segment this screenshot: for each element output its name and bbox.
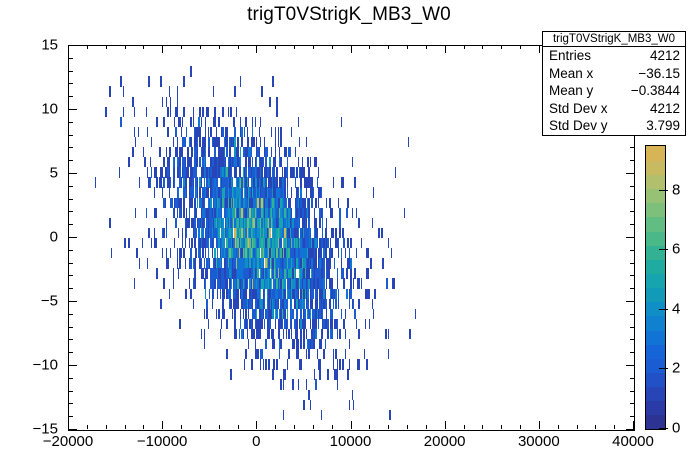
- histogram-bin: [280, 137, 281, 147]
- histogram-bin: [276, 309, 277, 319]
- x-minor-tick-top: [219, 45, 220, 49]
- y-minor-tick: [69, 186, 73, 187]
- histogram-bin: [179, 258, 180, 268]
- histogram-bin: [315, 329, 316, 339]
- histogram-bin: [198, 248, 199, 258]
- histogram-bin: [240, 319, 241, 329]
- histogram-bin: [368, 268, 369, 278]
- histogram-bin: [288, 258, 289, 268]
- histogram-bin: [217, 137, 218, 147]
- y-minor-tick-right: [630, 314, 634, 315]
- histogram-bin: [218, 137, 219, 147]
- x-major-tick: [256, 421, 257, 429]
- histogram-bin: [175, 218, 176, 228]
- histogram-bin: [156, 117, 157, 127]
- histogram-bin: [272, 258, 273, 268]
- x-major-tick-top: [68, 45, 69, 53]
- histogram-bin: [138, 127, 139, 137]
- histogram-bin: [251, 278, 252, 288]
- x-minor-tick: [501, 425, 502, 429]
- histogram-bin: [201, 177, 202, 187]
- histogram-bin: [216, 127, 217, 137]
- histogram-bin: [228, 157, 229, 167]
- histogram-bin: [292, 379, 293, 389]
- histogram-bin: [280, 379, 281, 389]
- histogram-bin: [169, 167, 170, 177]
- histogram-bin: [350, 258, 351, 268]
- histogram-bin: [247, 268, 248, 278]
- x-minor-tick-top: [501, 45, 502, 49]
- histogram-bin: [256, 319, 257, 329]
- histogram-bin: [366, 359, 367, 369]
- histogram-bin: [265, 238, 266, 248]
- histogram-bin: [194, 268, 195, 278]
- histogram-bin: [350, 238, 351, 248]
- histogram-bin: [300, 198, 301, 208]
- x-minor-tick: [482, 425, 483, 429]
- histogram-bin: [230, 177, 231, 187]
- histogram-bin: [173, 208, 174, 218]
- histogram-bin: [220, 258, 221, 268]
- histogram-bin: [244, 198, 245, 208]
- histogram-bin: [296, 198, 297, 208]
- histogram-bin: [259, 238, 260, 248]
- histogram-bin: [252, 289, 253, 299]
- histogram-bin: [202, 248, 203, 258]
- histogram-bin: [190, 66, 191, 76]
- histogram-bin: [166, 147, 167, 157]
- histogram-bin: [335, 319, 336, 329]
- histogram-bin: [224, 198, 225, 208]
- histogram-bin: [229, 289, 230, 299]
- histogram-bin: [292, 278, 293, 288]
- histogram-bin: [259, 208, 260, 218]
- histogram-bin: [233, 208, 234, 218]
- histogram-bin: [294, 339, 295, 349]
- histogram-bin: [253, 198, 254, 208]
- histogram-bin: [213, 238, 214, 248]
- histogram-bin: [261, 157, 262, 167]
- histogram-bin: [282, 258, 283, 268]
- histogram-bin: [224, 289, 225, 299]
- histogram-bin: [170, 147, 171, 157]
- histogram-bin: [314, 208, 315, 218]
- histogram-bin: [296, 208, 297, 218]
- histogram-bin: [279, 329, 280, 339]
- histogram-bin: [317, 278, 318, 288]
- histogram-bin: [214, 228, 215, 238]
- histogram-bin: [230, 107, 231, 117]
- x-minor-tick: [181, 425, 182, 429]
- histogram-bin: [230, 369, 231, 379]
- histogram-bin: [181, 198, 182, 208]
- histogram-bin: [243, 309, 244, 319]
- histogram-bin: [111, 248, 112, 258]
- histogram-bin: [249, 167, 250, 177]
- histogram-bin: [182, 228, 183, 238]
- histogram-bin: [257, 208, 258, 218]
- histogram-bin: [222, 218, 223, 228]
- histogram-bin: [321, 187, 322, 197]
- histogram-bin: [294, 268, 295, 278]
- histogram-bin: [321, 339, 322, 349]
- histogram-bin: [247, 147, 248, 157]
- histogram-bin: [308, 278, 309, 288]
- histogram-bin: [263, 187, 264, 197]
- histogram-bin: [317, 177, 318, 187]
- y-minor-tick-right: [630, 288, 634, 289]
- histogram-bin: [298, 238, 299, 248]
- histogram-bin: [109, 86, 110, 96]
- histogram-bin: [179, 167, 180, 177]
- histogram-bin: [167, 127, 168, 137]
- histogram-bin: [303, 329, 304, 339]
- histogram-bin: [240, 157, 241, 167]
- y-minor-tick: [69, 288, 73, 289]
- histogram-bin: [267, 278, 268, 288]
- histogram-bin: [314, 309, 315, 319]
- y-minor-tick: [69, 135, 73, 136]
- histogram-bin: [186, 177, 187, 187]
- x-minor-tick-top: [294, 45, 295, 49]
- histogram-bin: [331, 248, 332, 258]
- histogram-bin: [216, 157, 217, 167]
- x-minor-tick: [275, 425, 276, 429]
- histogram-bin: [234, 309, 235, 319]
- histogram-bin: [284, 248, 285, 258]
- x-minor-tick: [143, 425, 144, 429]
- histogram-bin: [308, 198, 309, 208]
- histogram-bin: [331, 319, 332, 329]
- histogram-bin: [208, 127, 209, 137]
- histogram-bin: [329, 248, 330, 258]
- histogram-bin: [291, 329, 292, 339]
- histogram-bin: [326, 309, 327, 319]
- histogram-bin: [194, 218, 195, 228]
- histogram-bin: [177, 147, 178, 157]
- histogram-bin: [265, 187, 266, 197]
- histogram-bin: [234, 137, 235, 147]
- histogram-bin: [272, 289, 273, 299]
- histogram-bin: [353, 400, 354, 410]
- histogram-bin: [199, 238, 200, 248]
- histogram-bin: [282, 187, 283, 197]
- histogram-bin: [381, 228, 382, 238]
- histogram-bin: [271, 187, 272, 197]
- histogram-bin: [256, 238, 257, 248]
- histogram-bin: [329, 258, 330, 268]
- histogram-bin: [255, 177, 256, 187]
- histogram-bin: [283, 238, 284, 248]
- histogram-bin: [225, 268, 226, 278]
- x-minor-tick: [200, 425, 201, 429]
- histogram-bin: [148, 177, 149, 187]
- x-minor-tick-top: [200, 45, 201, 49]
- histogram-bin: [186, 228, 187, 238]
- histogram-bin: [155, 238, 156, 248]
- x-minor-tick: [313, 425, 314, 429]
- histogram-bin: [265, 268, 266, 278]
- histogram-bin: [263, 268, 264, 278]
- palette-band: [646, 259, 665, 274]
- histogram-bin: [296, 187, 297, 197]
- x-minor-tick: [294, 425, 295, 429]
- histogram-bin: [268, 329, 269, 339]
- histogram-bin: [237, 268, 238, 278]
- histogram-bin: [208, 107, 209, 117]
- y-minor-tick: [69, 58, 73, 59]
- histogram-bin: [249, 278, 250, 288]
- histogram-bin: [194, 198, 195, 208]
- histogram-bin: [275, 127, 276, 137]
- histogram-bin: [169, 289, 170, 299]
- palette-band: [646, 288, 665, 303]
- histogram-bin: [237, 157, 238, 167]
- histogram-bin: [282, 289, 283, 299]
- histogram-bin: [264, 137, 265, 147]
- histogram-bin: [347, 198, 348, 208]
- histogram-bin: [199, 157, 200, 167]
- histogram-bin: [252, 359, 253, 369]
- histogram-bin: [195, 248, 196, 258]
- stats-row-key: Mean y: [549, 82, 593, 100]
- histogram-bin: [225, 278, 226, 288]
- histogram-bin: [162, 228, 163, 238]
- histogram-bin: [216, 268, 217, 278]
- histogram-bin: [372, 218, 373, 228]
- y-minor-tick: [69, 83, 73, 84]
- histogram-bin: [327, 238, 328, 248]
- histogram-bin: [206, 258, 207, 268]
- histogram-bin: [229, 238, 230, 248]
- histogram-bin: [253, 258, 254, 268]
- histogram-bin: [256, 208, 257, 218]
- histogram-bin: [287, 319, 288, 329]
- histogram-bin: [214, 117, 215, 127]
- histogram-bin: [204, 339, 205, 349]
- histogram-bin: [290, 147, 291, 157]
- histogram-bin: [260, 319, 261, 329]
- histogram-bin: [286, 198, 287, 208]
- histogram-bin: [197, 177, 198, 187]
- histogram-bin: [199, 187, 200, 197]
- histogram-bin: [169, 187, 170, 197]
- histogram-bin: [287, 157, 288, 167]
- histogram-bin: [271, 248, 272, 258]
- stats-row-key: Mean x: [549, 65, 593, 83]
- y-major-tick: [69, 301, 77, 302]
- histogram-bin: [298, 157, 299, 167]
- histogram-bin: [282, 299, 283, 309]
- histogram-bin: [287, 167, 288, 177]
- histogram-bin: [201, 218, 202, 228]
- histogram-bin: [245, 157, 246, 167]
- histogram-bin: [233, 117, 234, 127]
- histogram-bin: [222, 299, 223, 309]
- stats-row-value: −0.3844: [631, 82, 680, 100]
- histogram-bin: [352, 299, 353, 309]
- histogram-bin: [214, 137, 215, 147]
- histogram-bin: [267, 228, 268, 238]
- histogram-bin: [239, 238, 240, 248]
- histogram-bin: [170, 248, 171, 258]
- x-minor-tick: [558, 425, 559, 429]
- y-major-tick-right: [626, 173, 634, 174]
- x-minor-tick: [426, 425, 427, 429]
- histogram-bin: [193, 187, 194, 197]
- x-minor-tick: [577, 425, 578, 429]
- y-minor-tick: [69, 352, 73, 353]
- histogram-bin: [190, 117, 191, 127]
- histogram-bin: [252, 329, 253, 339]
- histogram-bin: [268, 299, 269, 309]
- histogram-bin: [315, 309, 316, 319]
- y-minor-tick-right: [630, 339, 634, 340]
- histogram-bin: [339, 208, 340, 218]
- histogram-bin: [218, 218, 219, 228]
- histogram-bin: [234, 86, 235, 96]
- histogram-bin: [330, 309, 331, 319]
- x-minor-tick: [595, 425, 596, 429]
- y-minor-tick: [69, 403, 73, 404]
- histogram-bin: [199, 248, 200, 258]
- histogram-bin: [268, 208, 269, 218]
- x-major-tick: [445, 421, 446, 429]
- histogram-bin: [265, 198, 266, 208]
- histogram-bin: [135, 137, 136, 147]
- histogram-bin: [302, 319, 303, 329]
- histogram-bin: [264, 278, 265, 288]
- histogram-bin: [333, 289, 334, 299]
- histogram-bin: [217, 258, 218, 268]
- statistics-box: trigT0VStrigK_MB3_W0 Entries4212Mean x−3…: [542, 31, 686, 136]
- histogram-bin: [306, 329, 307, 339]
- histogram-bin: [228, 238, 229, 248]
- histogram-bin: [310, 228, 311, 238]
- histogram-bin: [183, 248, 184, 258]
- histogram-bin: [236, 218, 237, 228]
- histogram-bin: [330, 238, 331, 248]
- histogram-bin: [239, 187, 240, 197]
- histogram-bin: [253, 309, 254, 319]
- x-major-tick-top: [445, 45, 446, 53]
- histogram-bin: [279, 278, 280, 288]
- histogram-bin: [179, 319, 180, 329]
- histogram-bin: [256, 167, 257, 177]
- histogram-bin: [162, 187, 163, 197]
- histogram-bin: [298, 187, 299, 197]
- histogram-bin: [261, 349, 262, 359]
- histogram-bin: [268, 187, 269, 197]
- histogram-bin: [296, 319, 297, 329]
- histogram-bin: [257, 329, 258, 339]
- histogram-bin: [308, 309, 309, 319]
- histogram-bin: [303, 238, 304, 248]
- histogram-bin: [229, 228, 230, 238]
- histogram-bin: [190, 258, 191, 268]
- histogram-bin: [290, 218, 291, 228]
- histogram-bin: [279, 248, 280, 258]
- histogram-bin: [206, 177, 207, 187]
- histogram-bin: [206, 167, 207, 177]
- y-axis-tick-label: −5: [6, 293, 58, 310]
- histogram-bin: [232, 198, 233, 208]
- histogram-bin: [307, 299, 308, 309]
- histogram-bin: [310, 400, 311, 410]
- histogram-bin: [337, 329, 338, 339]
- histogram-bin: [294, 167, 295, 177]
- x-axis-tick-label: −10000: [137, 433, 187, 450]
- histogram-bin: [268, 268, 269, 278]
- histogram-bin: [209, 258, 210, 268]
- histogram-bin: [225, 208, 226, 218]
- histogram-bin: [337, 379, 338, 389]
- histogram-bin: [338, 198, 339, 208]
- x-major-tick: [162, 421, 163, 429]
- histogram-bin: [185, 238, 186, 248]
- histogram-bin: [174, 157, 175, 167]
- histogram-bin: [241, 177, 242, 187]
- histogram-bin: [190, 157, 191, 167]
- histogram-bin: [358, 278, 359, 288]
- palette-band: [646, 401, 665, 416]
- histogram-bin: [368, 289, 369, 299]
- histogram-bin: [331, 278, 332, 288]
- histogram-bin: [253, 329, 254, 339]
- histogram-bin: [284, 289, 285, 299]
- histogram-bin: [222, 198, 223, 208]
- histogram-bin: [195, 127, 196, 137]
- histogram-bin: [245, 349, 246, 359]
- histogram-bin: [204, 137, 205, 147]
- histogram-bin: [286, 299, 287, 309]
- palette-band: [646, 146, 665, 161]
- histogram-bin: [237, 208, 238, 218]
- histogram-bin: [290, 248, 291, 258]
- histogram-bin: [234, 157, 235, 167]
- histogram-bin: [229, 137, 230, 147]
- y-minor-tick-right: [630, 211, 634, 212]
- histogram-bin: [286, 319, 287, 329]
- histogram-bin: [198, 218, 199, 228]
- histogram-bin: [353, 299, 354, 309]
- histogram-bin: [272, 268, 273, 278]
- x-major-tick-top: [256, 45, 257, 53]
- histogram-bin: [221, 268, 222, 278]
- histogram-bin: [220, 218, 221, 228]
- histogram-bin: [256, 147, 257, 157]
- histogram-bin: [292, 258, 293, 268]
- histogram-bin: [325, 339, 326, 349]
- histogram-bin: [248, 309, 249, 319]
- histogram-bin: [318, 278, 319, 288]
- y-axis-tick-label: 5: [6, 165, 58, 182]
- histogram-bin: [260, 238, 261, 248]
- histogram-bin: [105, 107, 106, 117]
- histogram-bin: [205, 248, 206, 258]
- histogram-bin: [190, 289, 191, 299]
- histogram-bin: [252, 198, 253, 208]
- histogram-bin: [210, 127, 211, 137]
- histogram-bin: [166, 248, 167, 258]
- histogram-bin: [205, 137, 206, 147]
- histogram-bin: [333, 299, 334, 309]
- histogram-bin: [314, 319, 315, 329]
- histogram-bin: [222, 248, 223, 258]
- histogram-bin: [291, 319, 292, 329]
- x-major-tick: [539, 421, 540, 429]
- histogram-bin: [286, 167, 287, 177]
